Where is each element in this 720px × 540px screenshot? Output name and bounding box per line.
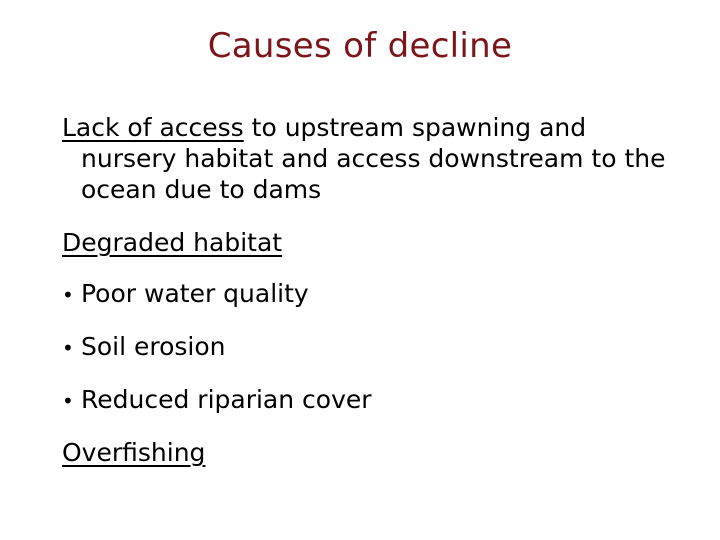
heading-degraded-habitat-label: Degraded habitat <box>62 228 282 257</box>
bullet-icon: • <box>62 280 81 311</box>
heading-degraded-habitat: Degraded habitat <box>62 227 674 258</box>
bullet-icon: • <box>62 333 81 364</box>
bullet-icon: • <box>62 386 81 417</box>
list-item: • Soil erosion <box>62 331 674 364</box>
paragraph-lead-lack-of-access: Lack of access <box>62 113 244 142</box>
paragraph-lack-of-access: Lack of access to upstream spawning and … <box>62 112 674 205</box>
list-item: • Reduced riparian cover <box>62 384 674 417</box>
heading-overfishing: Overfishing <box>62 437 674 468</box>
page-title: Causes of decline <box>0 24 720 68</box>
list-item-label: Reduced riparian cover <box>81 384 674 415</box>
list-item-label: Poor water quality <box>81 278 674 309</box>
slide: Causes of decline Lack of access to upst… <box>0 0 720 540</box>
list-item: • Poor water quality <box>62 278 674 311</box>
list-item-label: Soil erosion <box>81 331 674 362</box>
slide-body: Lack of access to upstream spawning and … <box>62 112 674 488</box>
heading-overfishing-label: Overfishing <box>62 438 205 467</box>
